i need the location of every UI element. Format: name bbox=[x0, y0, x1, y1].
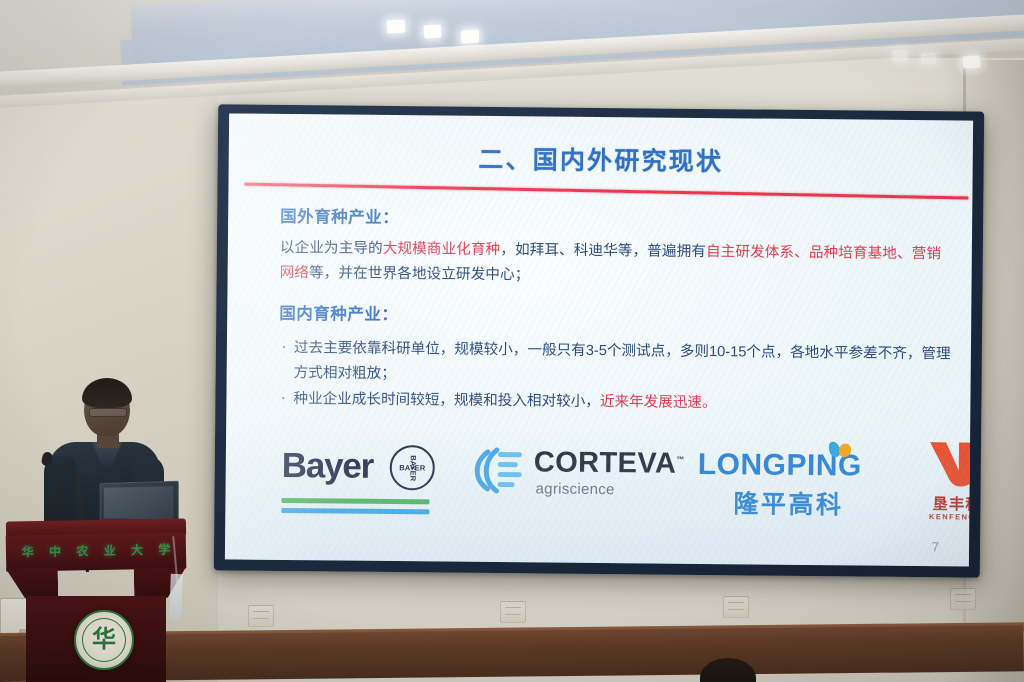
corteva-wordmark: CORTEVA™ bbox=[534, 446, 685, 480]
heading-domestic-industry: 国内育种产业： bbox=[279, 300, 398, 325]
ceiling-light-1 bbox=[387, 20, 406, 34]
slide: 二、国内外研究现状 国外育种产业： 以企业为主导的大规模商业化育种，如拜耳、科迪… bbox=[225, 113, 973, 566]
presenter-glasses bbox=[89, 408, 127, 417]
podium-apron-left bbox=[6, 568, 59, 599]
emblem-glyph: 华 bbox=[76, 628, 132, 652]
para-segment-2: ，如拜耳、科迪华等，普遍拥有 bbox=[500, 242, 706, 260]
kenfeng-english-name: KENFENGSEED bbox=[907, 512, 973, 522]
bullet-item-2: 种业企业成长时间较短，规模和投入相对较小，近来年发展迅速。 bbox=[278, 387, 952, 418]
heading-foreign-industry: 国外育种产业： bbox=[280, 203, 399, 228]
wall-outlet-3 bbox=[723, 596, 749, 618]
bayer-cross-vertical-text: BAYER bbox=[408, 455, 416, 481]
podium-char-2: 中 bbox=[49, 542, 61, 559]
slide-title: 二、国内外研究现状 bbox=[229, 137, 973, 180]
bayer-logo: Bayer BAYER BAYER bbox=[281, 434, 452, 531]
para-segment-1: 以企业为主导的 bbox=[280, 240, 383, 257]
projection-screen[interactable]: 二、国内外研究现状 国外育种产业： 以企业为主导的大规模商业化育种，如拜耳、科迪… bbox=[214, 104, 984, 577]
podium-char-1: 华 bbox=[22, 543, 34, 560]
bayer-green-bar bbox=[281, 498, 429, 504]
podium-paper bbox=[169, 574, 183, 620]
screen-bezel: 二、国内外研究现状 国外育种产业： 以企业为主导的大规模商业化育种，如拜耳、科迪… bbox=[214, 104, 984, 577]
ceiling-light-6 bbox=[963, 56, 981, 69]
kenfeng-mark-icon bbox=[926, 440, 974, 491]
para-highlight-1: 大规模商业化育种 bbox=[383, 241, 501, 258]
paragraph-foreign-industry: 以企业为主导的大规模商业化育种，如拜耳、科迪华等，普遍拥有自主研发体系、品种培育… bbox=[280, 236, 954, 292]
corteva-mark-icon bbox=[472, 444, 526, 497]
bullet-list: 过去主要依靠科研单位，规模较小，一般只有3-5个测试点，多则10-15个点，各地… bbox=[278, 336, 953, 419]
corteva-trademark: ™ bbox=[676, 455, 684, 464]
bullet-1-text: 过去主要依靠科研单位，规模较小，一般只有3-5个测试点，多则10-15个点，各地… bbox=[294, 340, 951, 382]
podium-char-5: 大 bbox=[131, 541, 143, 558]
podium-char-4: 业 bbox=[103, 541, 115, 558]
wall-outlet-2 bbox=[500, 601, 526, 623]
presenter-hair bbox=[82, 378, 132, 408]
longping-logo: LONGPING 隆平高科 bbox=[697, 438, 893, 535]
corteva-tagline: agriscience bbox=[535, 480, 614, 498]
ceiling-light-3 bbox=[461, 30, 480, 44]
bayer-cross-icon: BAYER BAYER bbox=[390, 445, 435, 490]
title-divider-rule bbox=[244, 183, 968, 200]
kenfeng-logo: 垦丰种业 KENFENGSEED bbox=[907, 440, 973, 536]
presenter-and-podium: 华 中 农 业 大 学 华 bbox=[0, 360, 210, 682]
ceiling-light-4 bbox=[893, 50, 909, 62]
longping-chinese-name: 隆平高科 bbox=[733, 484, 843, 521]
screen-surface: 二、国内外研究现状 国外育种产业： 以企业为主导的大规模商业化育种，如拜耳、科迪… bbox=[225, 113, 973, 566]
bayer-wordmark: Bayer bbox=[282, 446, 374, 487]
wall-outlet-1 bbox=[248, 605, 274, 627]
bullet-2-text: 种业企业成长时间较短，规模和投入相对较小， bbox=[293, 391, 600, 410]
podium-inscription: 华 中 农 业 大 学 bbox=[14, 539, 178, 562]
podium-char-3: 农 bbox=[76, 542, 88, 559]
podium-char-6: 学 bbox=[158, 540, 170, 557]
lecture-room: 二、国内外研究现状 国外育种产业： 以企业为主导的大规模商业化育种，如拜耳、科迪… bbox=[0, 0, 1024, 682]
university-emblem: 华 bbox=[74, 610, 134, 670]
para-segment-3: 等，并在世界各地设立研发中心； bbox=[309, 265, 530, 283]
bayer-blue-bar bbox=[281, 508, 429, 514]
ceiling-light-5 bbox=[921, 53, 937, 65]
slide-page-number: 7 bbox=[932, 539, 939, 554]
corteva-wordmark-text: CORTEVA bbox=[534, 446, 677, 479]
corteva-logo: CORTEVA™ agriscience bbox=[471, 436, 684, 533]
bullet-item-1: 过去主要依靠科研单位，规模较小，一般只有3-5个测试点，多则10-15个点，各地… bbox=[279, 336, 953, 392]
wall-outlet-4 bbox=[950, 588, 976, 610]
logo-row: Bayer BAYER BAYER bbox=[259, 434, 952, 536]
bullet-2-highlight: 近来年发展迅速。 bbox=[600, 394, 717, 411]
ceiling-light-2 bbox=[424, 25, 442, 39]
